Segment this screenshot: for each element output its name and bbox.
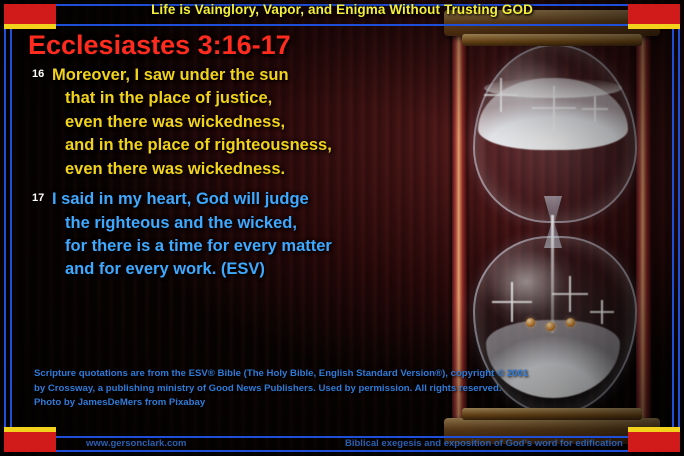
verse-line: even there was wickedness, [52, 111, 428, 134]
verse-number: 17 [32, 192, 44, 204]
footer-tagline: Biblical exegesis and exposition of God’… [345, 438, 623, 449]
verse-line: the righteous and the wicked, [52, 212, 428, 235]
photo-credit: Photo by JamesDeMers from Pixabay [34, 396, 594, 411]
verse-line: that in the place of justice, [52, 87, 428, 110]
headline-banner: Life is Vainglory, Vapor, and Enigma Wit… [0, 2, 684, 17]
corner-stripe-top-left [4, 24, 56, 29]
corner-stripe-bottom-right [628, 427, 680, 432]
corner-stripe-top-right [628, 24, 680, 29]
verse-line: for there is a time for every matter [52, 235, 428, 258]
verse-line: and for every work. (ESV) [52, 258, 428, 281]
verse-number: 16 [32, 68, 44, 80]
scripture-body: 16 Moreover, I saw under the sun that in… [28, 64, 428, 289]
corner-accent-bottom-left [4, 432, 56, 452]
verse-block-17: 17 I said in my heart, God will judge th… [28, 188, 428, 282]
corner-accent-bottom-right [628, 432, 680, 452]
verse-line: even there was wickedness. [52, 158, 428, 181]
verse-block-16: 16 Moreover, I saw under the sun that in… [28, 64, 428, 181]
copyright-line: by Crossway, a publishing ministry of Go… [34, 382, 594, 397]
verse-lines: Moreover, I saw under the sun that in th… [52, 64, 428, 181]
copyright-notice: Scripture quotations are from the ESV® B… [34, 367, 594, 411]
verse-line: and in the place of righteousness, [52, 134, 428, 157]
verse-line: I said in my heart, God will judge [52, 188, 428, 211]
verse-lines: I said in my heart, God will judge the r… [52, 188, 428, 282]
slide-canvas: Life is Vainglory, Vapor, and Enigma Wit… [0, 0, 684, 456]
corner-stripe-bottom-left [4, 427, 56, 432]
footer-website-url[interactable]: www.gersonclark.com [86, 438, 187, 449]
verse-line: Moreover, I saw under the sun [52, 64, 428, 87]
copyright-line: Scripture quotations are from the ESV® B… [34, 367, 594, 382]
scripture-reference: Ecclesiastes 3:16-17 [28, 30, 291, 61]
